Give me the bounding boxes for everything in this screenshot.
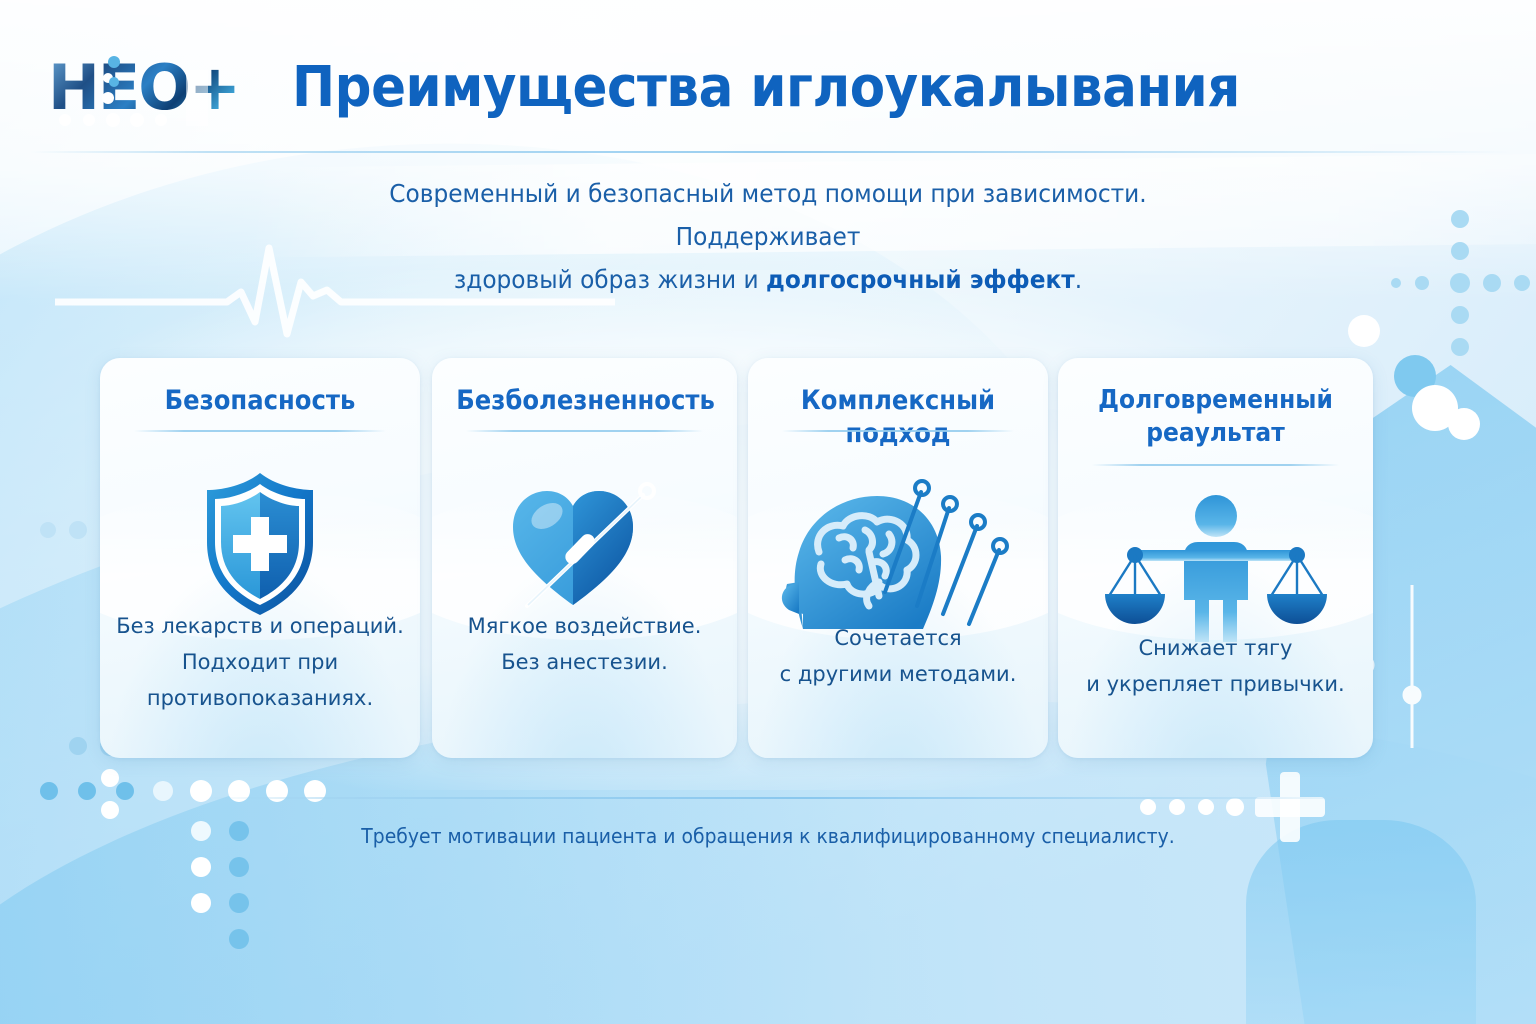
card-description: Сочетается с другими методами. <box>762 620 1034 692</box>
card-text-line: Подходит при <box>182 650 338 674</box>
balance-scales-person-icon <box>1101 488 1331 648</box>
card-title-divider <box>1092 464 1339 466</box>
card-title-divider <box>134 430 386 432</box>
infographic-canvas: НЕО+ Преимущества иглоукалывания Совреме… <box>0 0 1536 1024</box>
card-title: Комплексный подход <box>772 384 1024 450</box>
footer-divider <box>210 797 1395 799</box>
footer-note: Требует мотивации пациента и обращения к… <box>298 822 1238 850</box>
card-description: Снижает тягу и укрепляет привычки. <box>1072 630 1359 702</box>
benefit-cards-row: Безопасность <box>0 0 1536 1024</box>
card-text-line: противопоказаниях. <box>147 686 373 710</box>
heart-needle-icon <box>495 469 675 619</box>
shield-cross-icon <box>195 469 325 619</box>
card-title: Долговременный реаультат <box>1083 384 1349 450</box>
card-text-line: Мягкое воздействие. <box>468 614 702 638</box>
benefit-card-complex-approach[interactable]: Комплексный подход <box>748 358 1048 758</box>
benefit-card-painless[interactable]: Безболезненность <box>432 358 737 758</box>
benefit-card-long-term-result[interactable]: Долговременный реаультат <box>1058 358 1373 758</box>
card-text-line: и укрепляет привычки. <box>1086 672 1344 696</box>
head-brain-needles-icon <box>773 464 1023 634</box>
card-title: Безболезненность <box>456 384 713 417</box>
card-text-line: с другими методами. <box>780 662 1017 686</box>
card-title-divider <box>466 430 703 432</box>
card-title: Безопасность <box>125 384 395 417</box>
card-icon-slot <box>748 454 1048 644</box>
card-description: Без лекарств и операций. Подходит при пр… <box>114 608 406 716</box>
benefit-card-safety[interactable]: Безопасность <box>100 358 420 758</box>
card-title-divider <box>782 430 1014 432</box>
card-text-line: Сочетается <box>834 626 961 650</box>
card-icon-slot <box>432 454 737 634</box>
card-text-line: Без лекарств и операций. <box>116 614 404 638</box>
card-text-line: Без анестезии. <box>501 650 668 674</box>
card-icon-slot <box>100 454 420 634</box>
card-text-line: Снижает тягу <box>1139 636 1293 660</box>
card-description: Мягкое воздействие. Без анестезии. <box>446 608 723 680</box>
